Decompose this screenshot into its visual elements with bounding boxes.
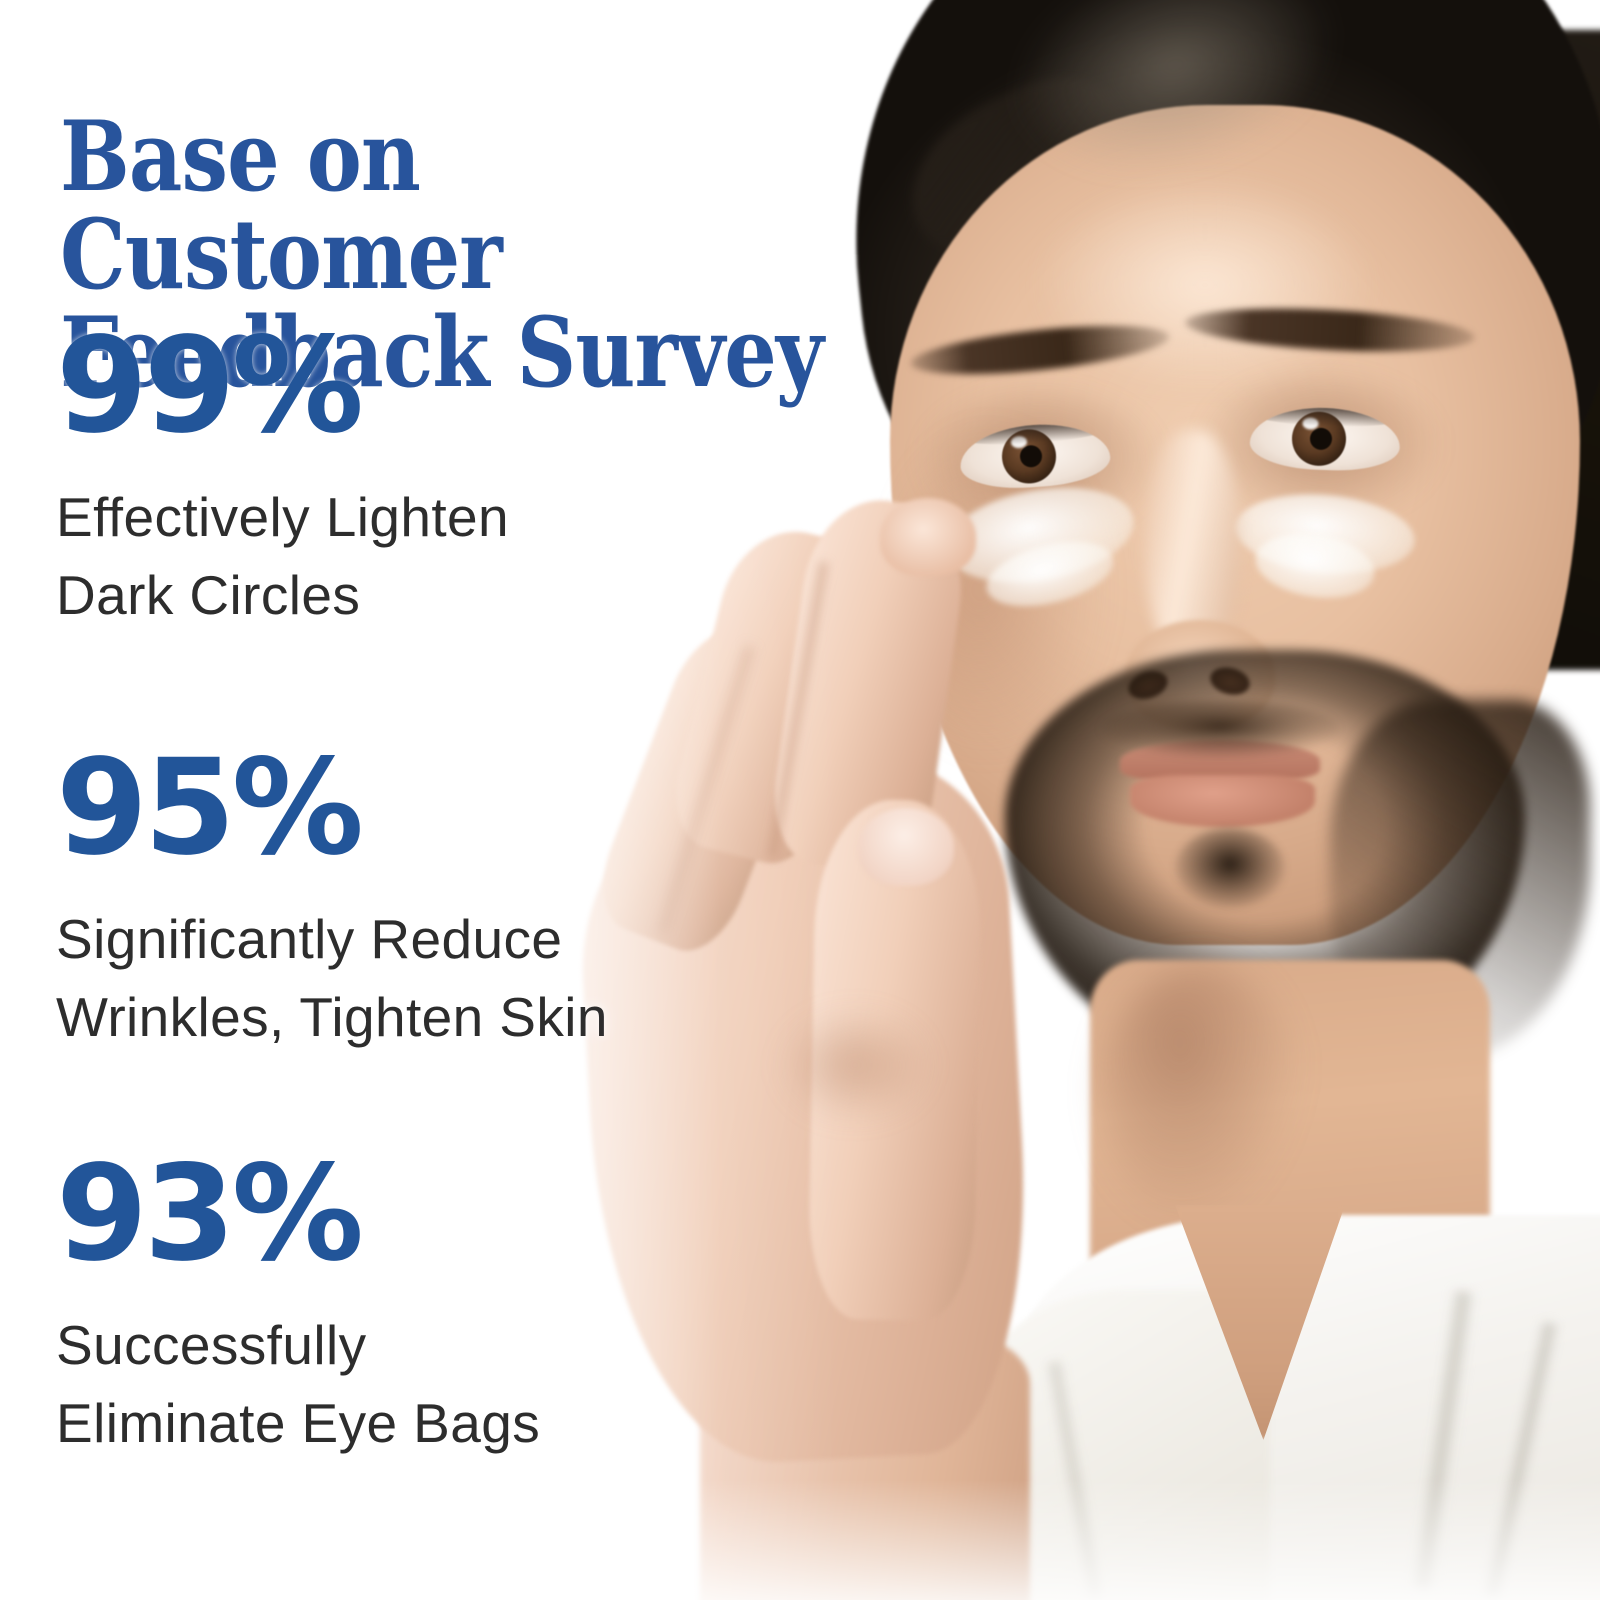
promo-poster: Base on Customer Feedback Survey 99% Eff… — [0, 0, 1600, 1600]
stat-percentage-93: 93% — [56, 1148, 540, 1280]
stat-percentage-95: 95% — [56, 742, 608, 874]
stat-block-eye-bags: 93% Successfully Eliminate Eye Bags — [56, 1148, 540, 1462]
stat-percentage-99: 99% — [56, 320, 509, 452]
text-content: Base on Customer Feedback Survey 99% Eff… — [0, 0, 1600, 1600]
stat-description-dark-circles: Effectively Lighten Dark Circles — [56, 478, 509, 634]
stat-block-wrinkles: 95% Significantly Reduce Wrinkles, Tight… — [56, 742, 608, 1056]
stat-block-dark-circles: 99% Effectively Lighten Dark Circles — [56, 320, 509, 634]
stat-description-eye-bags: Successfully Eliminate Eye Bags — [56, 1306, 540, 1462]
stat-description-wrinkles: Significantly Reduce Wrinkles, Tighten S… — [56, 900, 608, 1056]
